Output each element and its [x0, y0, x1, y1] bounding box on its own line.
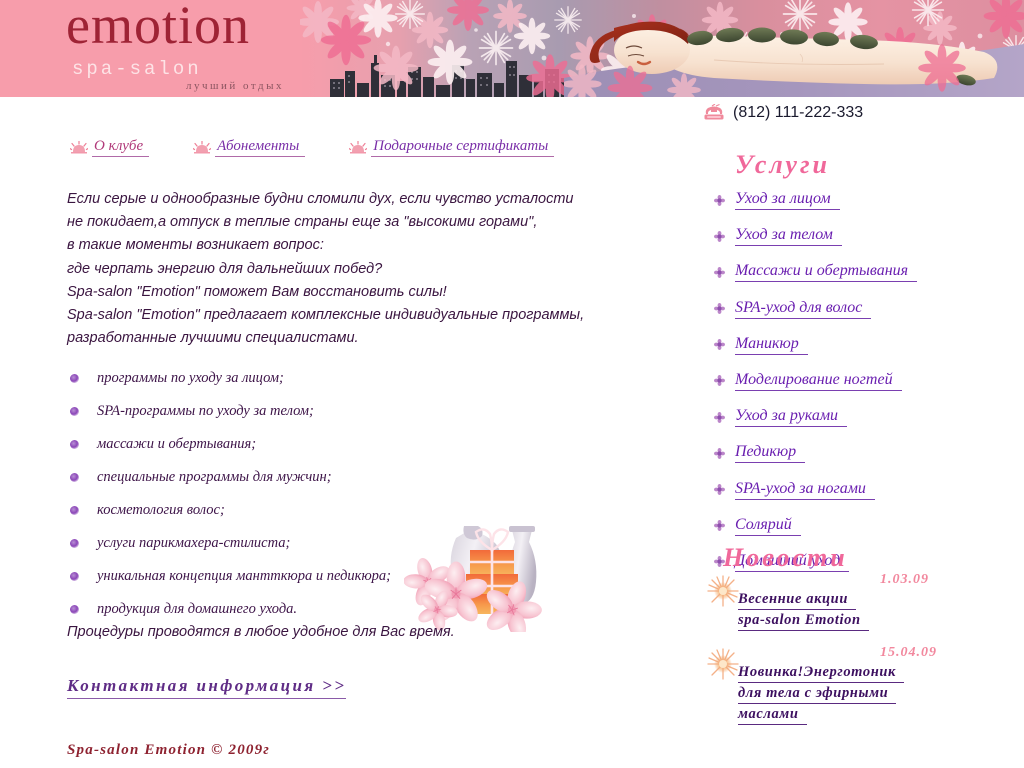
news-link[interactable]: Новинка!Энерготоник для тела с эфирными …: [738, 664, 1000, 725]
sparkle-star-icon: [704, 572, 742, 610]
news-heading: Новости: [723, 543, 848, 573]
logo-tagline: лучший отдых: [186, 80, 284, 92]
nav-item-about[interactable]: О клубе: [70, 138, 149, 157]
telephone-icon: [703, 104, 725, 122]
purple-dot-bullet-icon: [70, 407, 79, 416]
sparkle-star-icon: [704, 645, 742, 683]
list-item[interactable]: Педикюр: [714, 443, 1014, 463]
news-link-line: Весенние акции: [738, 591, 856, 610]
list-item[interactable]: SPA-уход за ногами: [714, 480, 1014, 500]
list-item-label: уникальная концепция мантткюра и педикюр…: [97, 568, 391, 585]
news-date: 15.04.09: [880, 645, 1000, 661]
list-item: специальные программы для мужчин;: [67, 469, 487, 486]
news-link-line: маслами: [738, 706, 807, 725]
purple-dot-bullet-icon: [70, 473, 79, 482]
news-date: 1.03.09: [880, 572, 1000, 588]
flower-bullet-icon: [714, 231, 725, 242]
purple-dot-bullet-icon: [70, 506, 79, 515]
list-item-label: массажи и обертывания;: [97, 436, 256, 453]
list-item[interactable]: SPA-уход для волос: [714, 299, 1014, 319]
list-item[interactable]: Уход за лицом: [714, 190, 1014, 210]
main-navigation[interactable]: О клубе Абонементы: [70, 138, 554, 157]
services-list[interactable]: Уход за лицом Уход за телом Массажи и об…: [714, 190, 1014, 588]
list-item[interactable]: Солярий: [714, 516, 1014, 536]
service-link[interactable]: Маникюр: [735, 335, 808, 355]
service-link[interactable]: Моделирование ногтей: [735, 371, 902, 391]
service-link[interactable]: Уход за телом: [735, 226, 842, 246]
intro-paragraph: Если серые и однообразные будни сломили …: [67, 192, 587, 355]
list-item-label: услуги парикмахера-стилиста;: [97, 535, 290, 552]
service-link[interactable]: Педикюр: [735, 443, 805, 463]
list-item-label: косметология волос;: [97, 502, 225, 519]
intro-line: Если серые и однообразные будни сломили …: [67, 192, 587, 207]
gift-boxes-flowers-image: [404, 512, 579, 632]
news-link-line: Новинка!Энерготоник: [738, 664, 904, 683]
list-item[interactable]: Уход за телом: [714, 226, 1014, 246]
services-heading: Услуги: [735, 150, 830, 180]
sunburst-icon: [349, 141, 367, 154]
sunburst-icon: [70, 141, 88, 154]
list-item-label: продукция для домашнего ухода.: [97, 601, 297, 618]
site-banner: emotion spa-salon лучший отдых: [0, 0, 1024, 97]
service-link[interactable]: Уход за руками: [735, 407, 847, 427]
nav-label: О клубе: [92, 138, 149, 157]
flower-bullet-icon: [714, 448, 725, 459]
flower-bullet-icon: [714, 195, 725, 206]
nav-label: Подарочные сертификаты: [371, 138, 554, 157]
intro-line: разработанные лучшими специалистами.: [67, 331, 587, 346]
list-item[interactable]: Моделирование ногтей: [714, 371, 1014, 391]
list-item: SPA-программы по уходу за телом;: [67, 403, 487, 420]
intro-line: Spa-salon "Emotion" поможет Вам восстано…: [67, 285, 587, 300]
closing-text: Процедуры проводятся в любое удобное для…: [67, 624, 455, 640]
news-item: 1.03.09 Весенние акции spa-salon Emotion: [700, 572, 1000, 633]
purple-dot-bullet-icon: [70, 572, 79, 581]
flower-bullet-icon: [714, 267, 725, 278]
list-item[interactable]: Маникюр: [714, 335, 1014, 355]
nav-item-gift-certificates[interactable]: Подарочные сертификаты: [349, 138, 554, 157]
news-link[interactable]: Весенние акции spa-salon Emotion: [738, 591, 1000, 631]
list-item: массажи и обертывания;: [67, 436, 487, 453]
contact-information-link[interactable]: Контактная информация >>: [67, 676, 346, 699]
list-item-label: SPA-программы по уходу за телом;: [97, 403, 314, 420]
phone-contact: (812) 111-222-333: [703, 104, 863, 122]
news-link-line: spa-salon Emotion: [738, 612, 869, 631]
service-link[interactable]: Массажи и обертывания: [735, 262, 917, 282]
flower-bullet-icon: [714, 303, 725, 314]
logo-title: emotion: [66, 0, 250, 52]
list-item[interactable]: Массажи и обертывания: [714, 262, 1014, 282]
service-link[interactable]: SPA-уход для волос: [735, 299, 871, 319]
flower-bullet-icon: [714, 520, 725, 531]
intro-line: в такие моменты возникает вопрос:: [67, 238, 587, 253]
flower-bullet-icon: [714, 375, 725, 386]
sunburst-icon: [193, 141, 211, 154]
flower-bullet-icon: [714, 339, 725, 350]
intro-line: где черпать энергию для дальнейших побед…: [67, 262, 587, 277]
service-link[interactable]: Уход за лицом: [735, 190, 840, 210]
intro-line: Spa-salon "Emotion" предлагает комплексн…: [67, 308, 587, 323]
news-link-line: для тела с эфирными: [738, 685, 896, 704]
list-item[interactable]: Уход за руками: [714, 407, 1014, 427]
list-item-label: программы по уходу за лицом;: [97, 370, 284, 387]
list-item: программы по уходу за лицом;: [67, 370, 487, 387]
nav-label: Абонементы: [215, 138, 305, 157]
news-item: 15.04.09 Новинка!Энерготоник для тела с …: [700, 645, 1000, 727]
nav-item-subscriptions[interactable]: Абонементы: [193, 138, 305, 157]
purple-dot-bullet-icon: [70, 539, 79, 548]
purple-dot-bullet-icon: [70, 605, 79, 614]
logo-subtitle: spa-salon: [72, 58, 202, 80]
purple-dot-bullet-icon: [70, 440, 79, 449]
phone-number: (812) 111-222-333: [733, 104, 863, 122]
service-link[interactable]: Солярий: [735, 516, 801, 536]
list-item-label: специальные программы для мужчин;: [97, 469, 332, 486]
service-link[interactable]: SPA-уход за ногами: [735, 480, 875, 500]
hot-stone-massage-image: [564, 0, 1024, 97]
flower-bullet-icon: [714, 484, 725, 495]
flower-bullet-icon: [714, 412, 725, 423]
copyright-text: Spa-salon Emotion © 2009г: [67, 742, 270, 759]
purple-dot-bullet-icon: [70, 374, 79, 383]
intro-line: не покидает,а отпуск в теплые страны еще…: [67, 215, 587, 230]
